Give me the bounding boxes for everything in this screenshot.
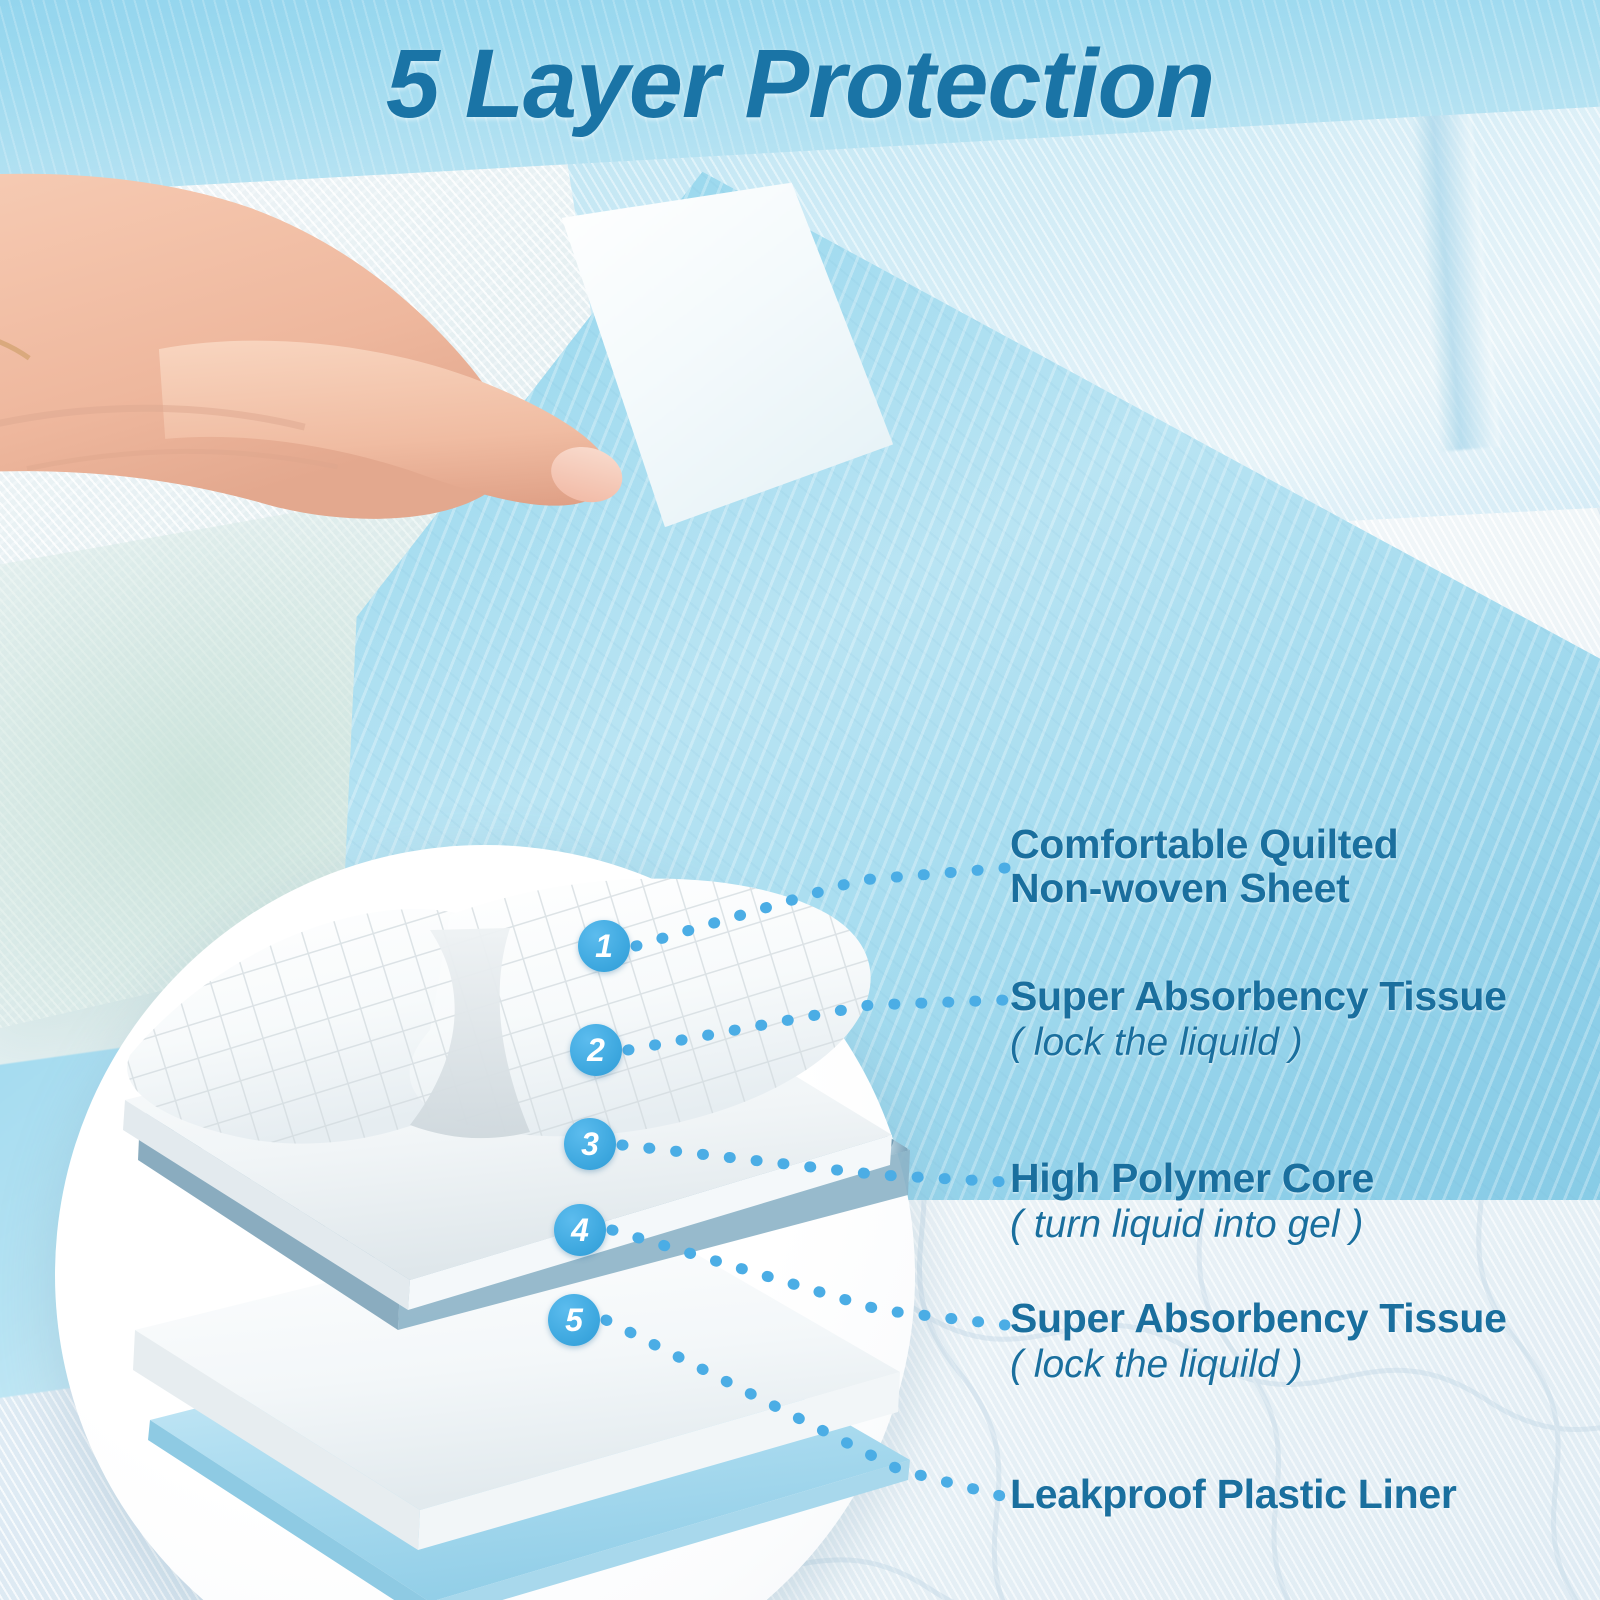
layer-3-subtitle: ( turn liquid into gel ) <box>1010 1203 1374 1248</box>
layer-5-title: Leakproof Plastic Liner <box>1010 1473 1457 1517</box>
layer-badge-2[interactable]: 2 <box>570 1024 622 1076</box>
layer-2-subtitle: ( lock the liquild ) <box>1010 1021 1507 1066</box>
layer-label-1: Comfortable Quilted Non-woven Sheet <box>1010 823 1398 911</box>
page-title: 5 Layer Protection <box>0 28 1600 140</box>
layer-4-subtitle: ( lock the liquild ) <box>1010 1343 1507 1388</box>
layer-label-4: Super Absorbency Tissue ( lock the liqui… <box>1010 1297 1507 1388</box>
layer-badge-5[interactable]: 5 <box>548 1294 600 1346</box>
layer-label-5: Leakproof Plastic Liner <box>1010 1473 1457 1517</box>
hand-holding-pad <box>0 118 764 601</box>
infographic-canvas: 5 Layer Protection <box>0 0 1600 1600</box>
layer-2-title: Super Absorbency Tissue <box>1010 975 1507 1019</box>
layer-1-title-line2: Non-woven Sheet <box>1010 867 1398 911</box>
layer-badge-3[interactable]: 3 <box>564 1118 616 1170</box>
layer-3-title: High Polymer Core <box>1010 1157 1374 1201</box>
layer-1-title-line1: Comfortable Quilted <box>1010 823 1398 867</box>
layer-label-3: High Polymer Core ( turn liquid into gel… <box>1010 1157 1374 1248</box>
five-layer-stack-illustration <box>30 860 930 1600</box>
layer-4-title: Super Absorbency Tissue <box>1010 1297 1507 1341</box>
layer-badge-4[interactable]: 4 <box>554 1204 606 1256</box>
layer-badge-1[interactable]: 1 <box>578 920 630 972</box>
layer-label-2: Super Absorbency Tissue ( lock the liqui… <box>1010 975 1507 1066</box>
